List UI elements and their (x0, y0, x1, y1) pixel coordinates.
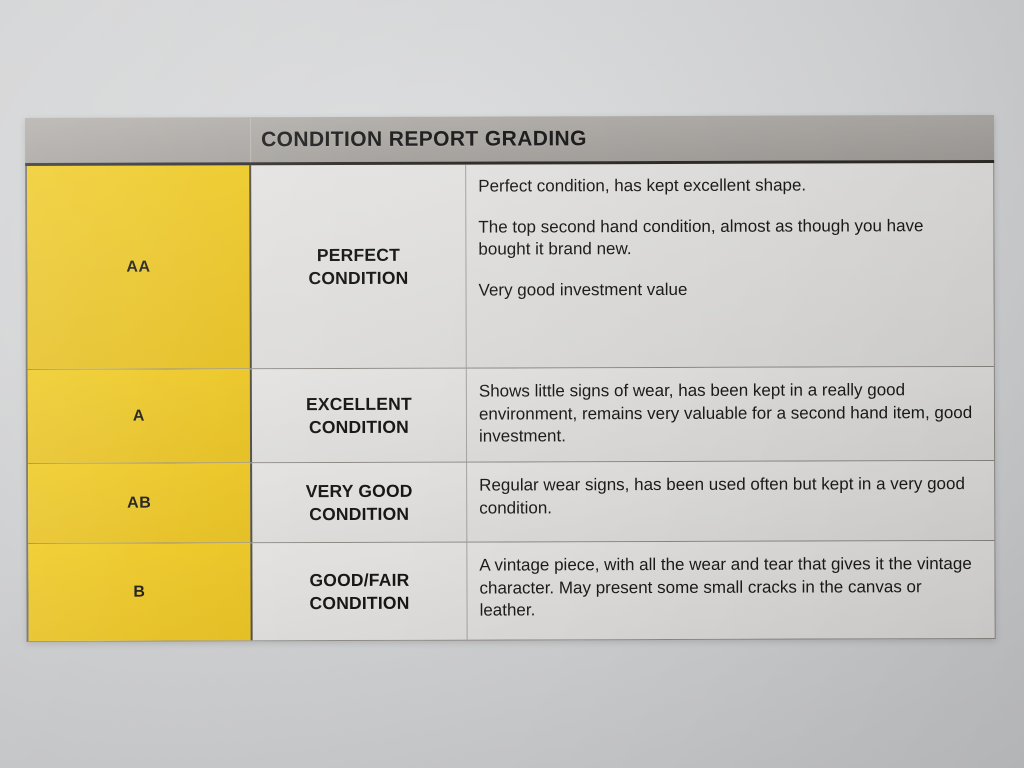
grade-code-cell: AB (28, 463, 252, 543)
table-row: AB VERY GOOD CONDITION Regular wear sign… (28, 461, 994, 544)
grade-description-cell: Shows little signs of wear, has been kep… (467, 367, 994, 462)
grade-code-cell: A (28, 369, 252, 463)
grade-code-cell: B (28, 543, 252, 641)
table-title: CONDITION REPORT GRADING (251, 127, 587, 152)
grade-name-line-1: EXCELLENT (306, 393, 412, 416)
grade-description-cell: A vintage piece, with all the wear and t… (467, 541, 994, 640)
grade-name-cell: GOOD/FAIR CONDITION (252, 543, 467, 641)
description-paragraph: Regular wear signs, has been used often … (479, 473, 980, 520)
table-header-left-gap (25, 117, 251, 163)
grade-code-cell: AA (27, 165, 252, 369)
description-paragraph: Shows little signs of wear, has been kep… (479, 379, 980, 448)
grade-name-cell: EXCELLENT CONDITION (252, 369, 467, 463)
condition-report-grading-table: CONDITION REPORT GRADING AA PERFECT COND… (25, 115, 996, 642)
table-header-band: CONDITION REPORT GRADING (25, 115, 994, 166)
description-paragraph: Perfect condition, has kept excellent sh… (478, 174, 979, 198)
table-row: AA PERFECT CONDITION Perfect condition, … (27, 163, 994, 370)
table-body: AA PERFECT CONDITION Perfect condition, … (25, 163, 995, 642)
grade-name-cell: VERY GOOD CONDITION (252, 463, 467, 543)
grade-name-line-2: CONDITION (308, 266, 408, 289)
description-paragraph: The top second hand condition, almost as… (478, 215, 979, 262)
photographed-document: CONDITION REPORT GRADING AA PERFECT COND… (0, 0, 1024, 768)
table-row: A EXCELLENT CONDITION Shows little signs… (28, 367, 994, 464)
grade-name-cell: PERFECT CONDITION (251, 165, 467, 369)
description-paragraph: Very good investment value (479, 278, 980, 302)
grade-name-line-1: PERFECT (317, 244, 400, 267)
table-row: B GOOD/FAIR CONDITION A vintage piece, w… (28, 541, 994, 641)
grade-description-cell: Regular wear signs, has been used often … (467, 461, 994, 542)
grade-name-line-2: CONDITION (309, 591, 409, 614)
grade-name-line-2: CONDITION (309, 502, 409, 525)
grade-description-cell: Perfect condition, has kept excellent sh… (466, 163, 994, 368)
description-paragraph: A vintage piece, with all the wear and t… (479, 553, 980, 622)
grade-name-line-1: VERY GOOD (306, 480, 413, 503)
grade-name-line-1: GOOD/FAIR (309, 569, 409, 592)
grade-name-line-2: CONDITION (309, 415, 409, 438)
